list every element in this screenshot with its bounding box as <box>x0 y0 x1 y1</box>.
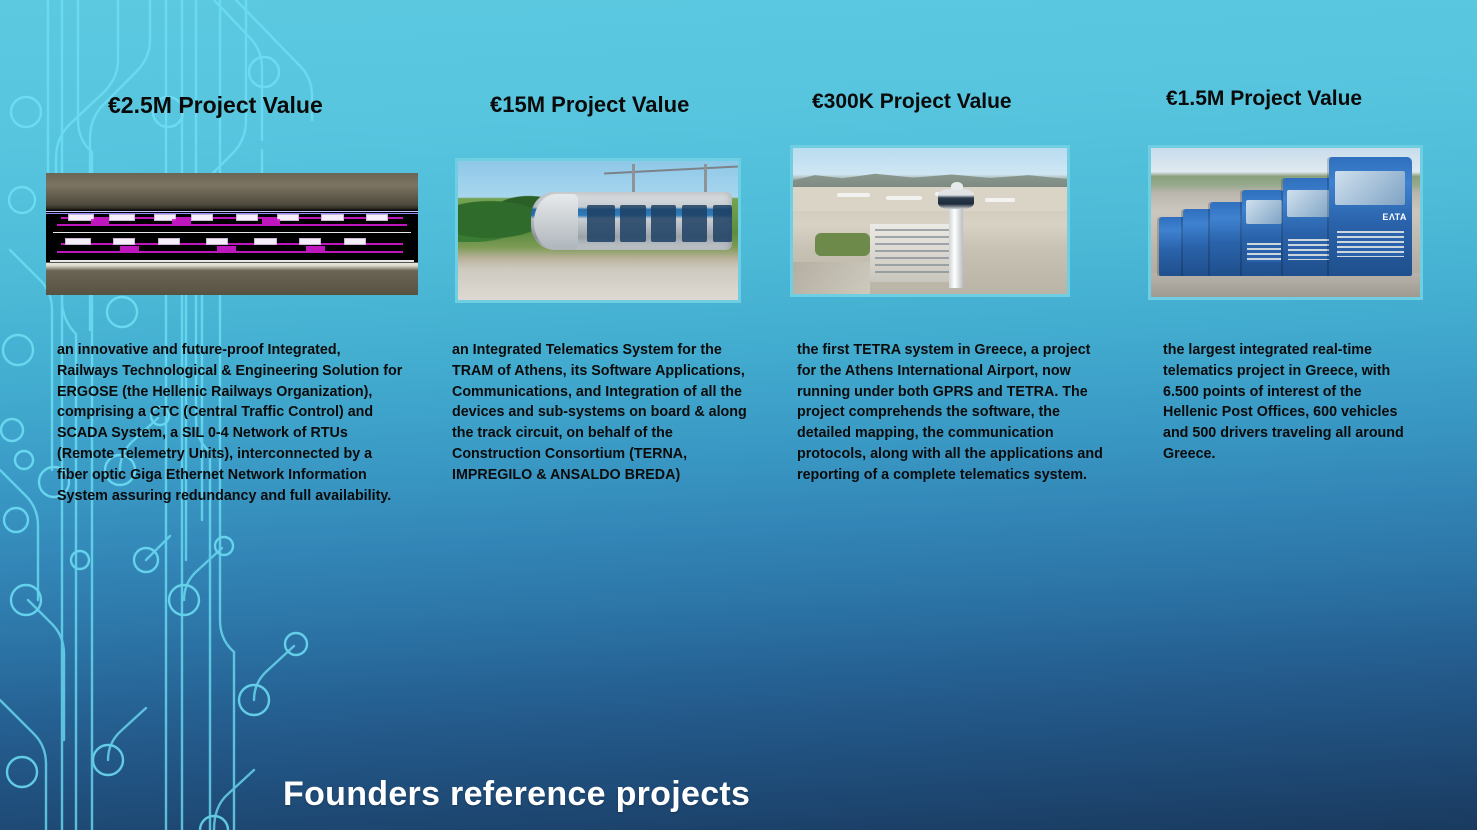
project-description-3: the largest integrated real-time telemat… <box>1163 340 1418 465</box>
ctc-scada-control-panel-photo <box>46 173 418 295</box>
partner-logo-strip: ΑΤΤΙΚΟ ΜΕΤΡΟ Α.Ε. ✈ ATHENS INTERNATIONAL… <box>0 596 1477 736</box>
project-value-header-1: €15M Project Value <box>490 92 689 118</box>
project-value-header-0: €2.5M Project Value <box>108 92 323 119</box>
elta-truck-fleet-photo: ΕΛΤΑ <box>1148 145 1423 300</box>
athens-international-airport-photo <box>790 145 1070 297</box>
project-description-0: an innovative and future-proof Integrate… <box>57 340 405 506</box>
project-value-header-3: €1.5M Project Value <box>1166 87 1362 111</box>
project-description-1: an Integrated Telematics System for the … <box>452 340 747 486</box>
athens-tram-photo <box>455 158 741 303</box>
slide-title: Founders reference projects <box>283 775 750 814</box>
slide-root: €2.5M Project Value €15M Project Value €… <box>0 0 1477 830</box>
project-value-headers: €2.5M Project Value €15M Project Value €… <box>0 0 1477 140</box>
project-description-2: the first TETRA system in Greece, a proj… <box>797 340 1107 486</box>
project-value-header-2: €300K Project Value <box>812 90 1012 114</box>
